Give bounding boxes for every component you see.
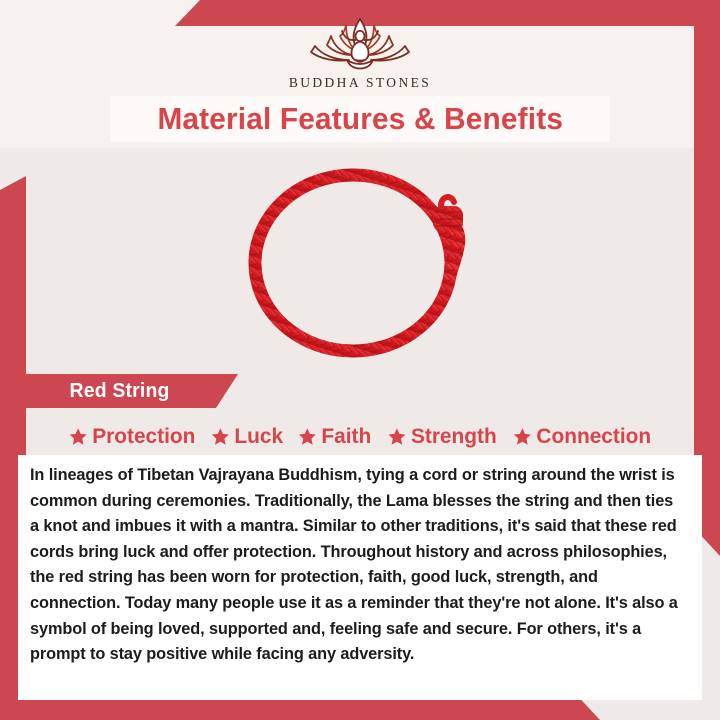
benefit-label: Connection <box>536 424 651 449</box>
infographic-page: BUDDHA STONES Material Features & Benefi… <box>0 0 720 720</box>
benefit-item: Faith <box>298 424 371 449</box>
benefit-item: Connection <box>513 424 651 449</box>
benefits-list: Protection Luck Faith Strength Connectio… <box>26 419 694 453</box>
benefit-item: Luck <box>211 424 283 449</box>
brand-name: BUDDHA STONES <box>289 75 431 91</box>
star-icon <box>211 427 229 446</box>
title-banner: Material Features & Benefits <box>110 96 610 142</box>
benefit-label: Luck <box>234 424 283 449</box>
lotus-meditation-icon <box>300 14 420 72</box>
benefit-item: Strength <box>387 424 496 449</box>
page-title: Material Features & Benefits <box>157 101 563 137</box>
star-icon <box>387 427 405 446</box>
benefit-label: Strength <box>411 424 497 449</box>
product-image-area <box>26 148 694 373</box>
benefit-label: Protection <box>92 424 195 449</box>
section-label-ribbon: Red String <box>26 374 238 408</box>
star-icon <box>513 427 531 446</box>
red-string-braided-bracelet-icon <box>235 158 485 363</box>
section-label-text: Red String <box>70 380 170 403</box>
benefit-label: Faith <box>322 424 372 449</box>
star-icon <box>69 427 87 446</box>
description-panel: In lineages of Tibetan Vajrayana Buddhis… <box>18 455 702 700</box>
star-icon <box>298 427 316 446</box>
brand-logo: BUDDHA STONES <box>0 14 720 91</box>
benefit-item: Protection <box>69 424 195 449</box>
description-text: In lineages of Tibetan Vajrayana Buddhis… <box>30 463 685 668</box>
